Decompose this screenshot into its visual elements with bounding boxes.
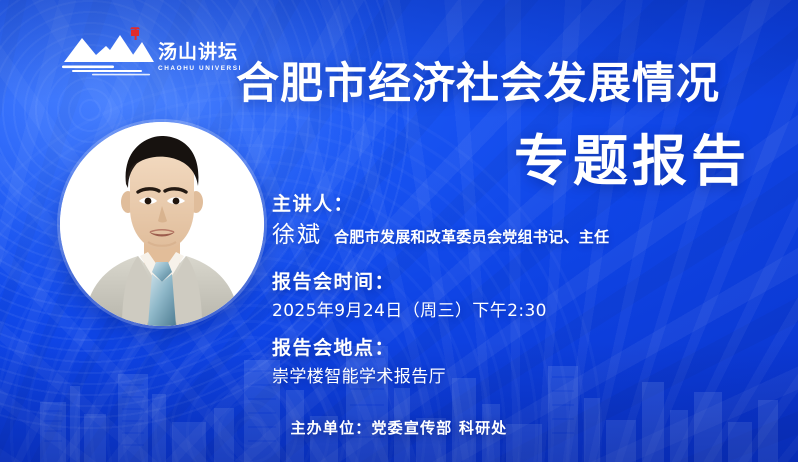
lecture-info-block: 主讲人： 徐斌 合肥市发展和改革委员会党组书记、主任 报告会时间： 2025年9… (272, 190, 742, 392)
logo-brand-en: CHAOHU UNIVERSITY (158, 65, 242, 72)
poster-title-line-1: 合肥市经济社会发展情况 (236, 58, 720, 110)
logo-water-lines (62, 66, 150, 76)
organizer-footer: 主办单位：党委宣传部 科研处 (0, 417, 798, 438)
poster-title-line-2: 专题报告 (514, 128, 750, 194)
speaker-row: 徐斌 合肥市发展和改革委员会党组书记、主任 (272, 218, 742, 254)
time-label: 报告会时间： (272, 268, 742, 296)
chaohu-university-logo: 汤山讲坛 CHAOHU UNIVERSITY (62, 22, 242, 80)
speaker-name: 徐斌 (272, 218, 322, 252)
spacer-after-time (272, 326, 742, 334)
venue-value: 崇学楼智能学术报告厅 (272, 362, 742, 392)
speaker-title: 合肥市发展和改革委员会党组书记、主任 (334, 220, 609, 254)
speaker-portrait (60, 122, 264, 326)
logo-brand-cn: 汤山讲坛 (158, 40, 238, 63)
venue-label: 报告会地点： (272, 334, 742, 362)
spacer-after-speaker (272, 254, 742, 268)
lecture-poster: 汤山讲坛 CHAOHU UNIVERSITY (0, 0, 798, 462)
logo-red-marker (130, 27, 140, 40)
speaker-label: 主讲人： (272, 190, 742, 218)
logo-mountains (64, 35, 154, 62)
time-value: 2025年9月24日（周三）下午2:30 (272, 296, 742, 326)
